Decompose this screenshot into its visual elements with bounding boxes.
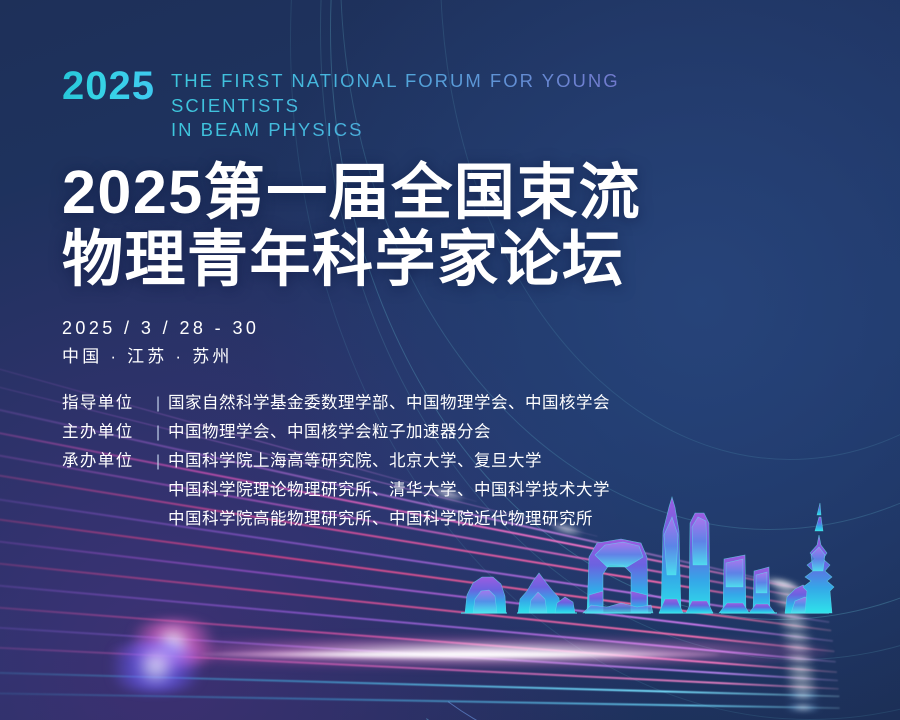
eyebrow-row: 2025 THE FIRST NATIONAL FORUM FOR YOUNG … (62, 66, 852, 143)
organizer-label: 主办单位 (62, 418, 148, 442)
poster-content: 2025 THE FIRST NATIONAL FORUM FOR YOUNG … (62, 0, 852, 534)
event-meta: 2025 / 3 / 28 - 30 中国 · 江苏 · 苏州 (62, 315, 852, 369)
organizer-row: 指导单位 | 国家自然科学基金委数理学部、中国物理学会、中国核学会 (62, 389, 852, 413)
chinese-title-line1: 2025第一届全国束流 (62, 159, 852, 227)
glow-core (200, 649, 720, 660)
organizer-separator: | (148, 424, 168, 442)
organizer-label: 承办单位 (62, 447, 148, 471)
glow-node-blue (96, 640, 216, 692)
conference-poster: 2025 THE FIRST NATIONAL FORUM FOR YOUNG … (0, 0, 900, 720)
event-date: 2025 / 3 / 28 - 30 (62, 315, 852, 342)
chinese-title: 2025第一届全国束流 物理青年科学家论坛 (62, 159, 852, 294)
beam-cyan (0, 668, 840, 697)
organizer-value: 国家自然科学基金委数理学部、中国物理学会、中国核学会 (168, 389, 610, 413)
english-title: THE FIRST NATIONAL FORUM FOR YOUNG SCIEN… (171, 69, 751, 143)
event-location: 中国 · 江苏 · 苏州 (62, 344, 852, 370)
organizer-value: 中国科学院高能物理研究所、中国科学院近代物理研究所 (168, 505, 593, 529)
beam-magenta (0, 618, 838, 681)
organizer-row: 主办单位 | 中国物理学会、中国核学会粒子加速器分会 (62, 418, 852, 442)
year-accent: 2025 (62, 66, 155, 106)
organizer-value: 中国物理学会、中国核学会粒子加速器分会 (168, 418, 491, 442)
beam-magenta (0, 640, 839, 690)
beam-cyan (0, 690, 840, 709)
glow-node-magenta (118, 620, 228, 668)
organizer-value: 中国科学院上海高等研究院、北京大学、复旦大学 (168, 447, 542, 471)
organizer-row: 承办单位 | 中国科学院上海高等研究院、北京大学、复旦大学 (62, 447, 852, 471)
organizer-separator: | (148, 453, 168, 471)
organizers-block: 指导单位 | 国家自然科学基金委数理学部、中国物理学会、中国核学会 主办单位 |… (62, 389, 852, 529)
organizer-continuation-row: 中国科学院理论物理研究所、清华大学、中国科学技术大学 (168, 476, 852, 500)
glow-ribbon (110, 632, 830, 672)
organizer-label: 指导单位 (62, 389, 148, 413)
english-title-line1: THE FIRST NATIONAL FORUM FOR YOUNG SCIEN… (171, 69, 751, 118)
chinese-title-line2: 物理青年科学家论坛 (62, 226, 852, 294)
organizer-separator: | (148, 395, 168, 413)
organizer-value: 中国科学院理论物理研究所、清华大学、中国科学技术大学 (168, 476, 610, 500)
english-title-line2: IN BEAM PHYSICS (171, 118, 751, 143)
organizer-continuation-row: 中国科学院高能物理研究所、中国科学院近代物理研究所 (168, 505, 852, 529)
